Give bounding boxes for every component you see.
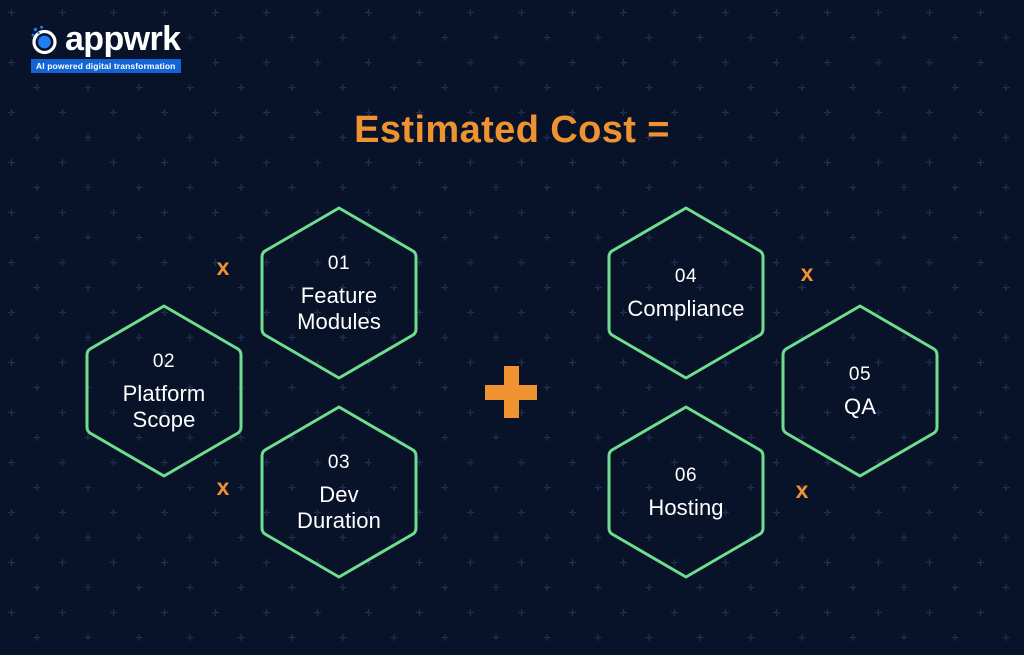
hex-node-03[interactable]: 03 Dev Duration bbox=[260, 404, 418, 580]
hex-number-02: 02 bbox=[153, 350, 175, 374]
hex-number-06: 06 bbox=[675, 464, 697, 488]
hex-content-03: 03 Dev Duration bbox=[260, 404, 418, 580]
hex-content-02: 02 Platform Scope bbox=[85, 303, 243, 479]
hex-node-05[interactable]: 05 QA bbox=[781, 303, 939, 479]
hex-content-05: 05 QA bbox=[781, 303, 939, 479]
hex-node-01[interactable]: 01 Feature Modules bbox=[260, 205, 418, 381]
hex-label-01: Feature Modules bbox=[297, 283, 381, 335]
hex-label-02: Platform Scope bbox=[123, 381, 206, 433]
hex-content-06: 06 Hosting bbox=[607, 404, 765, 580]
multiply-top-left: x bbox=[211, 256, 235, 279]
hex-number-01: 01 bbox=[328, 252, 350, 276]
appwrk-logo: appwrk AI powered digital transformation bbox=[28, 20, 181, 73]
multiply-bottom-left: x bbox=[211, 476, 235, 499]
hex-node-02[interactable]: 02 Platform Scope bbox=[85, 303, 243, 479]
appwrk-circle-icon bbox=[28, 22, 62, 56]
logo-wordmark: appwrk bbox=[65, 22, 180, 56]
hex-node-06[interactable]: 06 Hosting bbox=[607, 404, 765, 580]
logo-row: appwrk bbox=[28, 20, 180, 58]
hex-content-04: 04 Compliance bbox=[607, 205, 765, 381]
hex-label-06: Hosting bbox=[648, 495, 723, 521]
plus-operator bbox=[485, 366, 537, 418]
logo-tagline: AI powered digital transformation bbox=[31, 59, 181, 73]
hex-label-04: Compliance bbox=[627, 296, 744, 322]
hex-content-01: 01 Feature Modules bbox=[260, 205, 418, 381]
hex-node-04[interactable]: 04 Compliance bbox=[607, 205, 765, 381]
hex-number-04: 04 bbox=[675, 265, 697, 289]
hex-label-05: QA bbox=[844, 394, 876, 420]
plus-vertical-bar bbox=[504, 366, 519, 418]
multiply-bottom-right: x bbox=[790, 479, 814, 502]
hex-label-03: Dev Duration bbox=[297, 482, 381, 534]
hex-number-03: 03 bbox=[328, 451, 350, 475]
multiply-top-right: x bbox=[795, 262, 819, 285]
page-title: Estimated Cost = bbox=[0, 107, 1024, 153]
hex-number-05: 05 bbox=[849, 363, 871, 387]
